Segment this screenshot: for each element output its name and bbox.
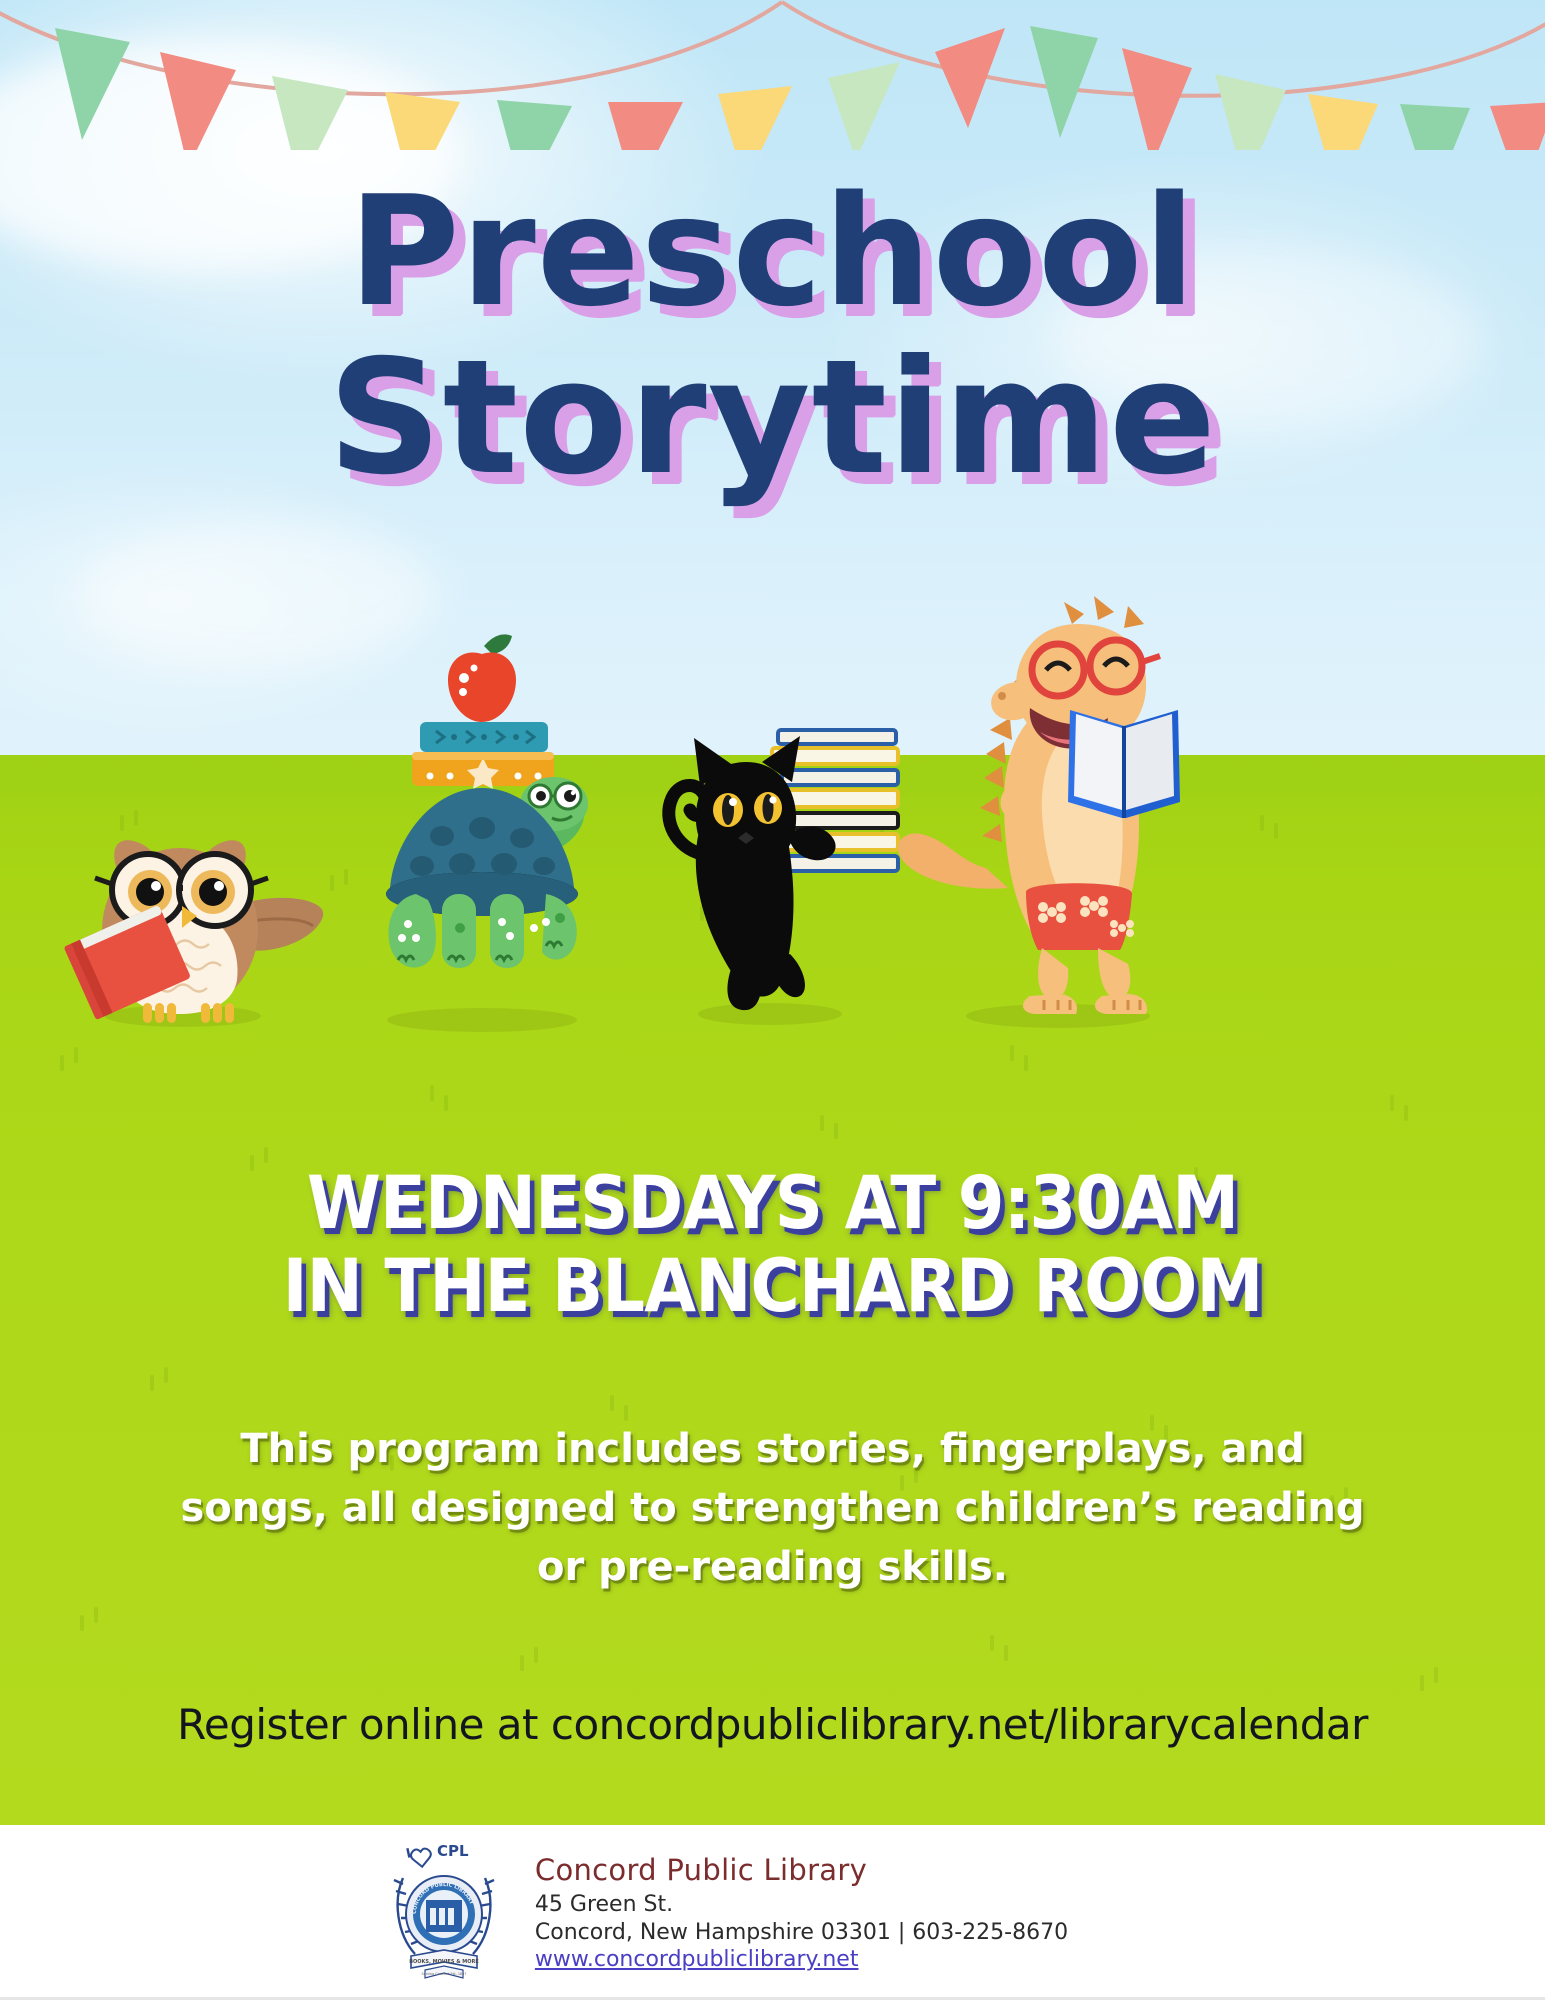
- character-row: [0, 540, 1545, 880]
- library-website-link[interactable]: www.concordpubliclibrary.net: [535, 1947, 1068, 1972]
- blue-book-icon: [1068, 710, 1180, 818]
- library-city-phone: Concord, New Hampshire 03301 | 603-225-8…: [535, 1919, 1068, 1947]
- library-contact-block: Concord Public Library 45 Green St. Conc…: [535, 1853, 1068, 1972]
- svg-text:CPL: CPL: [437, 1842, 469, 1860]
- owl-with-book-icon: [55, 798, 325, 1033]
- title-line-2: Storytime: [0, 341, 1545, 496]
- bunting-decoration: [0, 0, 1545, 150]
- event-headline: WEDNESDAYS AT 9:30AM IN THE BLANCHARD RO…: [0, 1162, 1545, 1328]
- turtle-with-books-icon: [332, 588, 632, 1038]
- description-line-2: songs, all designed to strengthen childr…: [0, 1479, 1545, 1538]
- library-logo-icon: I CPL: [381, 1842, 509, 1984]
- apple-icon: [448, 634, 516, 722]
- description-line-1: This program includes stories, fingerpla…: [0, 1420, 1545, 1479]
- poster-root: Preschool Storytime: [0, 0, 1545, 2000]
- svg-text:BOOKS, MOVIES & MORE: BOOKS, MOVIES & MORE: [409, 1959, 479, 1965]
- program-description: This program includes stories, fingerpla…: [0, 1420, 1545, 1598]
- headline-line-2: IN THE BLANCHARD ROOM: [62, 1245, 1483, 1328]
- library-street: 45 Green St.: [535, 1891, 1068, 1919]
- dinosaur-reading-icon: [880, 550, 1190, 1030]
- poster-title: Preschool Storytime: [0, 178, 1545, 496]
- cat-with-books-icon: [650, 610, 910, 1030]
- headline-line-1: WEDNESDAYS AT 9:30AM: [62, 1162, 1483, 1245]
- title-line-1: Preschool: [0, 178, 1545, 327]
- library-name: Concord Public Library: [535, 1853, 1068, 1887]
- footer-bar: I CPL: [0, 1825, 1545, 2000]
- description-line-3: or pre-reading skills.: [0, 1538, 1545, 1597]
- svg-text:Serving Concord Est. 1857: Serving Concord Est. 1857: [421, 1972, 466, 1976]
- registration-line[interactable]: Register online at concordpubliclibrary.…: [0, 1700, 1545, 1749]
